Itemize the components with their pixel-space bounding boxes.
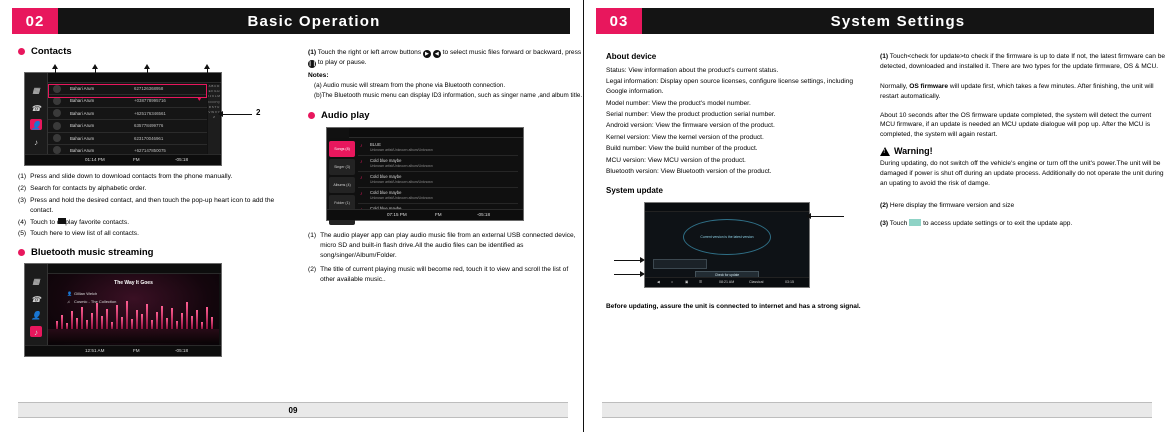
list-item: (1) Press and slide down to download con… — [18, 172, 290, 182]
status-temp: 03:15 — [785, 280, 794, 284]
version-status-circle: Current version is the latest version — [683, 219, 771, 255]
screen-topbar — [47, 264, 221, 274]
about-device-column: About device Status: View information ab… — [606, 46, 868, 315]
callout-label-2: 2 — [256, 108, 260, 117]
step-number: (1) — [308, 231, 316, 261]
status-label: Classical — [749, 280, 763, 284]
about-intro: Status: View information about the produ… — [606, 66, 868, 76]
music-list: Songs (8) Singer (3) Albums (4) Folder (… — [328, 138, 521, 209]
chapter-title: System Settings — [642, 8, 1154, 34]
page-number: 09 — [289, 406, 298, 415]
update-button-icon — [909, 219, 921, 226]
update-instructions-column: (1) Touch<check for update>to check if t… — [880, 46, 1165, 232]
step-number: (4) — [18, 218, 26, 228]
tab-albums[interactable]: Albums (4) — [329, 177, 355, 193]
contact-phone: +625176346561 — [134, 111, 166, 116]
status-fm: FM — [435, 212, 442, 217]
apps-grid-icon: ▦ — [30, 276, 42, 287]
about-item: Bluetooth version: View Bluetooth versio… — [606, 167, 868, 177]
firmware-info-box — [653, 259, 707, 269]
music-note-icon: ♪ — [360, 159, 363, 165]
contact-row[interactable]: Bahari Arum 635778499776 — [48, 120, 207, 132]
status-fm: FM — [133, 157, 140, 162]
contacts-title: Contacts — [31, 46, 72, 57]
step-text: Search for contacts by alphabetic order. — [30, 184, 146, 194]
screen-statusbar: 07:15 PM FM -05:18 — [327, 209, 523, 220]
phone-icon: ☎ — [30, 294, 42, 305]
update-footer-note: Before updating, assure the unit is conn… — [606, 302, 868, 312]
track-row[interactable]: ♪ Cold blue maybe Unknown artist/Unknown… — [358, 156, 518, 172]
contact-phone: +038778995716 — [134, 98, 166, 103]
step-number: (1) — [18, 172, 26, 182]
track-title: Cold blue maybe — [370, 158, 401, 163]
basic-step-1: (1) Touch the right or left arrow button… — [308, 48, 584, 68]
left-page-header: 02 Basic Operation — [12, 8, 570, 34]
callout-line-3 — [95, 69, 96, 74]
step-text: Touch<check for update>to check if the f… — [880, 53, 1165, 70]
bullet-dot-icon — [18, 48, 25, 55]
apps-grid-icon: ▦ — [30, 85, 42, 96]
status-time: 01:14 PM — [85, 157, 105, 162]
music-note-icon: ♪ — [30, 137, 42, 148]
track-row[interactable]: ♪ Cold blue maybe Unknown artist/Unknown… — [358, 188, 518, 204]
screen-sidebar: ▦ ☎ 👤 ♪ ⚙ — [25, 264, 48, 356]
contacts-icon: 👤 — [30, 310, 42, 321]
section-contacts-heading: Contacts — [18, 46, 290, 57]
callout-line-1 — [55, 69, 56, 74]
next-arrow-button-icon: ▶ — [423, 50, 431, 58]
audio-play-screenshot: Songs (8) Singer (3) Albums (4) Folder (… — [326, 127, 524, 221]
update-callout-arrow-1 — [806, 213, 811, 219]
bullet-dot-icon — [18, 249, 25, 256]
contact-phone: +627147850075 — [134, 148, 166, 153]
chapter-number: 02 — [12, 8, 58, 34]
step-number: (3) — [880, 220, 888, 227]
para-pre: Normally, — [880, 83, 909, 90]
screen-topbar — [645, 203, 809, 212]
callout-arrow-2 — [218, 111, 223, 117]
prev-arrow-button-icon: ◀ — [433, 50, 441, 58]
right-column: (1) Touch the right or left arrow button… — [308, 46, 584, 287]
bluetooth-title: Bluetooth music streaming — [31, 247, 153, 258]
music-note-icon: ♪ — [360, 191, 363, 197]
step-text-pre: Touch — [890, 220, 908, 227]
track-row[interactable]: ♪ Cold blue maybe Unknown artist/Unknown… — [358, 172, 518, 188]
tab-singer[interactable]: Singer (3) — [329, 159, 355, 175]
left-page: 02 Basic Operation Contacts ▦ ☎ — [0, 0, 582, 432]
about-item: Kernel version: View the kernel version … — [606, 133, 868, 143]
warning-title: Warning! — [894, 146, 933, 156]
update-step-2: (2) Here display the firmware version an… — [880, 201, 1165, 211]
list-item: (2) The title of current playing music w… — [308, 265, 584, 285]
music-note-icon: ♪ — [360, 175, 363, 181]
step-text: Touch to display favorite contacts. — [30, 219, 129, 226]
music-note-icon: ♪ — [360, 143, 363, 149]
contact-name: Bahari Arum — [70, 98, 94, 103]
para-bold: OS firmware — [909, 83, 948, 90]
track-title: BLUE — [370, 142, 381, 147]
screen-sidebar: ▦ ☎ 👤 ♪ ⚙ — [25, 73, 48, 165]
music-note-icon: ♪ — [30, 326, 42, 337]
about-item: Model number: View the product's model n… — [606, 99, 868, 109]
right-page: 03 System Settings About device Status: … — [583, 0, 1165, 432]
avatar — [53, 109, 61, 117]
step-number: (2) — [308, 265, 316, 285]
screen-topbar — [47, 73, 221, 83]
artist-name: Gillian Welch — [74, 291, 97, 296]
about-item: Android version: View the firmware versi… — [606, 121, 868, 131]
step-number: (3) — [18, 196, 26, 216]
reflection — [48, 329, 219, 343]
avatar — [53, 134, 61, 142]
contact-row[interactable]: Bahari Arum +625176346561 — [48, 108, 207, 120]
status-temp: -05:18 — [175, 157, 188, 162]
section-audio-play-heading: Audio play — [308, 110, 584, 121]
about-item: Serial number: View the product producti… — [606, 110, 868, 120]
step-text-mid: to select music files forward or backwar… — [443, 49, 582, 56]
bluetooth-music-screenshot: ▦ ☎ 👤 ♪ ⚙ The Way It Goes 👤 Gillian Welc… — [24, 263, 222, 357]
track-title: Cold blue maybe — [370, 190, 401, 195]
contact-phone: 623170046961 — [134, 136, 163, 141]
list-item: (2) Search for contacts by alphabetic or… — [18, 184, 290, 194]
selection-highlight — [48, 84, 207, 98]
step-text: The audio player app can play audio musi… — [320, 231, 584, 261]
about-device-title: About device — [606, 52, 868, 61]
list-item: (5) Touch here to view list of all conta… — [18, 229, 290, 239]
artist-row: 👤 Gillian Welch — [74, 291, 97, 296]
warning-body: During updating, do not switch off the v… — [880, 159, 1165, 189]
contact-name: Bahari Arum — [70, 148, 94, 153]
update-callout-arrow-3 — [640, 271, 645, 277]
system-update-title: System update — [606, 186, 868, 195]
about-device-body: Status: View information about the produ… — [606, 66, 868, 177]
equalizer-bars — [54, 299, 213, 329]
step-text: The title of current playing music will … — [320, 265, 584, 285]
audio-play-steps: (1) The audio player app can play audio … — [308, 231, 584, 284]
contacts-steps: (1) Press and slide down to download con… — [18, 172, 290, 239]
update-callout-line-2 — [614, 260, 642, 261]
track-sub: Unknown artist/Unknown album/Unknown — [370, 148, 433, 152]
notes-title: Notes: — [308, 72, 584, 79]
about-item: Legal information: Display open source l… — [606, 77, 868, 97]
update-callout-line-1 — [810, 216, 844, 217]
play-pause-button-icon: ❙❙ — [308, 60, 316, 68]
mcu-firmware-paragraph: About 10 seconds after the OS firmware u… — [880, 111, 1165, 141]
step-text-post: to access update settings or to exit the… — [923, 220, 1072, 227]
update-step-1: (1) Touch<check for update>to check if t… — [880, 52, 1165, 72]
list-item: (3) Press and hold the desired contact, … — [18, 196, 290, 216]
contacts-icon: 👤 — [30, 119, 42, 130]
status-time: 07:15 PM — [387, 212, 407, 217]
screen-statusbar: 12:51 AM FM -05:18 — [25, 345, 221, 356]
list-item: (4) Touch to display favorite contacts. — [18, 218, 290, 228]
step-text: Touch here to view list of all contacts. — [30, 229, 139, 239]
favorite-heart-icon[interactable]: ♥ — [197, 97, 201, 103]
note-item: (a) Audio music will stream from the pho… — [314, 81, 584, 90]
step-text-pre: Touch the right or left arrow buttons — [318, 49, 421, 56]
step-text: Press and hold the desired contact, and … — [30, 196, 290, 216]
update-callout-line-3 — [614, 274, 642, 275]
status-time: 08:21 AM — [719, 280, 734, 284]
avatar — [53, 97, 61, 105]
step-number: (2) — [18, 184, 26, 194]
note-item: (b)The Bluetooth music menu can display … — [314, 91, 584, 100]
warning-triangle-icon — [880, 147, 890, 156]
chapter-number: 03 — [596, 8, 642, 34]
callout-line-4 — [147, 69, 148, 74]
chapter-title: Basic Operation — [58, 8, 570, 34]
section-bluetooth-heading: Bluetooth music streaming — [18, 247, 290, 258]
status-fm: FM — [133, 348, 140, 353]
alphabet-index[interactable]: A B C D E F G H I J K L M N O P Q R S T … — [208, 84, 220, 154]
contact-row[interactable]: Bahari Arum 623170046961 — [48, 133, 207, 145]
screen-statusbar: 01:14 PM FM -05:18 — [25, 154, 221, 165]
track-title: Cold blue maybe — [370, 174, 401, 179]
contact-name: Bahari Arum — [70, 123, 94, 128]
tab-songs[interactable]: Songs (8) — [329, 141, 355, 157]
right-page-footer — [602, 402, 1152, 418]
about-item: Build number: View the build number of t… — [606, 144, 868, 154]
step-number: (1) — [308, 49, 316, 56]
contact-name: Bahari Arum — [70, 111, 94, 116]
list-item: (1) The audio player app can play audio … — [308, 231, 584, 261]
favorites-button-icon — [58, 218, 66, 224]
callout-line-2 — [222, 114, 252, 115]
left-column: Contacts ▦ ☎ 👤 ♪ ⚙ — [18, 46, 290, 357]
contact-name: Bahari Arum — [70, 136, 94, 141]
step-number: (5) — [18, 229, 26, 239]
audio-play-title: Audio play — [321, 110, 370, 121]
step-number: (1) — [880, 53, 888, 60]
callout-line-5 — [207, 69, 208, 74]
contact-phone: 635778499776 — [134, 123, 163, 128]
os-firmware-paragraph: Normally, OS firmware will update first,… — [880, 82, 1165, 102]
status-temp: -05:18 — [477, 212, 490, 217]
step-text: Press and slide down to download contact… — [30, 172, 232, 182]
system-update-screenshot: Current version is the latest version Ch… — [644, 202, 810, 288]
avatar — [53, 122, 61, 130]
status-time: 12:51 AM — [85, 348, 104, 353]
bullet-dot-icon — [308, 112, 315, 119]
update-step-3: (3) Touch to access update settings or t… — [880, 219, 1165, 229]
track-row[interactable]: ♪ BLUE Unknown artist/Unknown album/Unkn… — [358, 140, 518, 156]
warning-heading: Warning! — [880, 146, 1165, 156]
right-page-header: 03 System Settings — [596, 8, 1154, 34]
contacts-screenshot: ▦ ☎ 👤 ♪ ⚙ Bahari Arum 627126368958 — [24, 72, 222, 166]
music-visualizer: The Way It Goes 👤 Gillian Welch ♫ Cosmic… — [48, 274, 219, 345]
track-sub: Unknown artist/Unknown album/Unknown — [370, 164, 433, 168]
step-text: Here display the firmware version and si… — [890, 202, 1014, 209]
track-sub: Unknown artist/Unknown album/Unknown — [370, 196, 433, 200]
screen-navbar: ◀⌂▣ ☰ 08:21 AM Classical 03:15 — [645, 277, 809, 287]
track-title: The Way It Goes — [114, 280, 153, 286]
step-number: (2) — [880, 202, 888, 209]
screen-topbar — [349, 128, 523, 138]
status-temp: -05:18 — [175, 348, 188, 353]
left-page-footer: 09 — [18, 402, 568, 418]
update-callout-arrow-2 — [640, 257, 645, 263]
about-item: MCU version: View MCU version of the pro… — [606, 156, 868, 166]
step-text-post: to play or pause. — [318, 59, 367, 66]
phone-icon: ☎ — [30, 103, 42, 114]
track-sub: Unknown artist/Unknown album/Unknown — [370, 180, 433, 184]
